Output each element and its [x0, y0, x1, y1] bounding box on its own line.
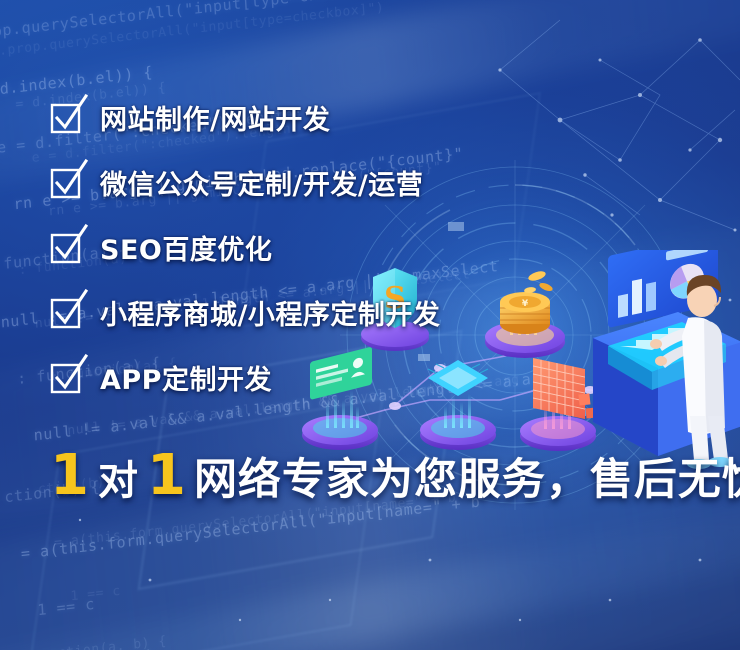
promo-banner: .prop.querySelectorAll("input[type=check…	[0, 0, 740, 650]
headline-number-first: 1	[50, 448, 89, 504]
checkbox-checked-icon[interactable]	[52, 103, 80, 131]
checklist-item-label: SEO百度优化	[100, 228, 272, 267]
checkbox-checked-icon[interactable]	[52, 298, 80, 326]
headline-tail-text: 网络专家为您服务，售后无忧！	[194, 459, 740, 502]
checklist-item[interactable]: SEO百度优化	[52, 226, 712, 268]
headline: 1 对 1 网络专家为您服务，售后无忧！	[50, 448, 740, 504]
service-checklist: 网站制作/网站开发 微信公众号定制/开发/运营 SEO百度优化	[52, 96, 712, 421]
checklist-item[interactable]: 小程序商城/小程序定制开发	[52, 291, 712, 333]
checkbox-checked-icon[interactable]	[52, 168, 80, 196]
checklist-item-label: 微信公众号定制/开发/运营	[100, 163, 423, 202]
checkbox-checked-icon[interactable]	[52, 363, 80, 391]
headline-number-second: 1	[147, 448, 186, 504]
checklist-item-label: 网站制作/网站开发	[100, 98, 330, 137]
headline-middle-word: 对	[89, 461, 147, 501]
checklist-item-label: 小程序商城/小程序定制开发	[100, 293, 440, 332]
checklist-item-label: APP定制开发	[100, 358, 272, 397]
checkbox-checked-icon[interactable]	[52, 233, 80, 261]
checklist-item[interactable]: APP定制开发	[52, 356, 712, 398]
checklist-item[interactable]: 微信公众号定制/开发/运营	[52, 161, 712, 203]
checklist-item[interactable]: 网站制作/网站开发	[52, 96, 712, 138]
